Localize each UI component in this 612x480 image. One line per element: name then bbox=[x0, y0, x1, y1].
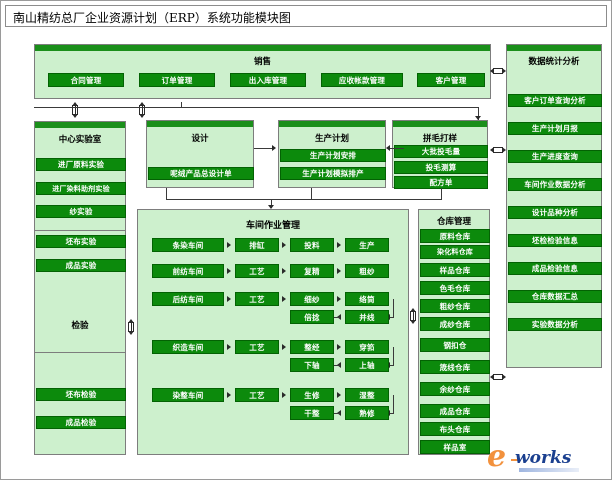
inspection-item-greige[interactable]: 坯布检验 bbox=[36, 388, 126, 401]
warehouse-item-roving[interactable]: 粗纱仓库 bbox=[420, 299, 490, 313]
workshop-title: 车间作业管理 bbox=[138, 218, 408, 231]
sales-item-customer[interactable]: 客户管理 bbox=[417, 73, 485, 87]
arrow-r3-1 bbox=[227, 296, 231, 302]
workshop-r1-step-2[interactable]: 投料 bbox=[290, 238, 334, 252]
arrow-r4-2 bbox=[282, 344, 286, 350]
workshop-row-prespin-name[interactable]: 前纺车间 bbox=[152, 264, 224, 278]
connector-sales-to-lab bbox=[71, 102, 80, 118]
lab-item-greige-fabric[interactable]: 坯布实验 bbox=[36, 235, 126, 248]
wool-sample-header-bar bbox=[393, 121, 487, 127]
statistics-module: 数据统计分析 客户订单查询分析 生产计划月报 生产进度查询 车间作业数据分析 设… bbox=[506, 44, 602, 368]
line-r5-wrap-v bbox=[393, 395, 394, 413]
line-r3-4 bbox=[334, 317, 340, 318]
workshop-r3-step-2[interactable]: 细纱 bbox=[290, 292, 334, 306]
connector-warehouse-to-stats bbox=[490, 373, 506, 382]
stats-item-plan-monthly[interactable]: 生产计划月报 bbox=[508, 122, 602, 135]
line-r3-wrap-h bbox=[390, 317, 394, 318]
line-r3-wrap-v bbox=[393, 299, 394, 317]
sales-item-inout-stock[interactable]: 出入库管理 bbox=[230, 73, 306, 87]
stats-item-design-variety[interactable]: 设计品种分析 bbox=[508, 206, 602, 219]
workshop-row-dyefinish-name[interactable]: 染整车间 bbox=[152, 388, 224, 402]
arrow-r1-3 bbox=[337, 242, 341, 248]
wool-sample-title: 拼毛打样 bbox=[393, 132, 487, 144]
warehouse-item-dye-chem[interactable]: 染化料仓库 bbox=[420, 245, 490, 259]
design-item-total-design-order[interactable]: 呢绒产品总设计单 bbox=[148, 167, 254, 180]
sales-header-bar bbox=[35, 45, 490, 51]
workshop-r2-step-2[interactable]: 复精 bbox=[290, 264, 334, 278]
wool-item-wool-calc[interactable]: 投毛测算 bbox=[394, 161, 488, 174]
workshop-r2-step-3[interactable]: 粗纱 bbox=[345, 264, 389, 278]
workshop-r3-step-1[interactable]: 工艺 bbox=[235, 292, 279, 306]
production-plan-title: 生产计划 bbox=[279, 132, 385, 144]
line-r4-wrap-v bbox=[393, 347, 394, 365]
connector-sales-to-stats bbox=[490, 67, 506, 76]
erp-module-diagram: 南山精纺总厂企业资源计划（ERP）系统功能模块图 销售 合同管理 订单管理 出入… bbox=[0, 0, 612, 480]
sales-module: 销售 合同管理 订单管理 出入库管理 应收帐款管理 客户管理 bbox=[34, 44, 491, 99]
central-lab-header-bar bbox=[35, 122, 125, 128]
line-woolsample-down bbox=[441, 188, 442, 199]
arrow-r4-3 bbox=[337, 344, 341, 350]
lab-item-yarn[interactable]: 纱实验 bbox=[36, 205, 126, 218]
workshop-r5-step2-1[interactable]: 干整 bbox=[290, 406, 334, 420]
workshop-r5-step-1[interactable]: 工艺 bbox=[235, 388, 279, 402]
stats-item-greige-inspect-info[interactable]: 坯检检验信息 bbox=[508, 234, 602, 247]
stats-item-customer-order-query[interactable]: 客户订单查询分析 bbox=[508, 94, 602, 107]
design-header-bar bbox=[147, 121, 253, 127]
wool-item-batch-wool-qty[interactable]: 大批投毛量 bbox=[394, 145, 488, 158]
plan-item-arrangement[interactable]: 生产计划安排 bbox=[280, 149, 386, 162]
warehouse-item-sample[interactable]: 样品仓库 bbox=[420, 263, 490, 277]
sales-title: 销售 bbox=[35, 55, 490, 67]
bus-line-to-workshop bbox=[166, 199, 442, 200]
warehouse-item-cloth-end[interactable]: 布头仓库 bbox=[420, 422, 490, 436]
arrow-r5-1 bbox=[227, 392, 231, 398]
workshop-r5-step2-2[interactable]: 熟修 bbox=[345, 406, 389, 420]
line-plan-down bbox=[311, 188, 312, 199]
lab-item-dye-auxiliary[interactable]: 进厂染料助剂实验 bbox=[36, 182, 126, 195]
design-title: 设计 bbox=[147, 132, 253, 144]
warehouse-title: 仓库管理 bbox=[419, 215, 489, 227]
page-title-bar: 南山精纺总厂企业资源计划（ERP）系统功能模块图 bbox=[5, 5, 607, 27]
central-lab-module-cont: 坯布实验 成品实验 检验 bbox=[34, 231, 126, 353]
line-woolsample-to-plan bbox=[390, 148, 404, 149]
warehouse-item-reed[interactable]: 钢扣仓 bbox=[420, 338, 490, 352]
stats-item-progress-query[interactable]: 生产进度查询 bbox=[508, 150, 602, 163]
line-r4-4 bbox=[334, 365, 340, 366]
arrow-r3-3 bbox=[337, 296, 341, 302]
stats-item-warehouse-summary[interactable]: 仓库数据汇总 bbox=[508, 290, 602, 303]
workshop-r1-step-1[interactable]: 排缸 bbox=[235, 238, 279, 252]
warehouse-item-surplus-yarn[interactable]: 余纱仓库 bbox=[420, 382, 490, 396]
inspection-title: 检验 bbox=[35, 319, 125, 331]
line-design-to-plan bbox=[254, 148, 272, 149]
production-plan-header-bar bbox=[279, 121, 385, 127]
lab-item-finished-product[interactable]: 成品实验 bbox=[36, 259, 126, 272]
wool-sample-module: 拼毛打样 大批投毛量 投毛测算 配方单 bbox=[392, 120, 488, 188]
stats-item-workshop-data[interactable]: 车间作业数据分析 bbox=[508, 178, 602, 191]
sales-item-contract[interactable]: 合同管理 bbox=[48, 73, 124, 87]
workshop-r4-step-2[interactable]: 整经 bbox=[290, 340, 334, 354]
workshop-r4-step-1[interactable]: 工艺 bbox=[235, 340, 279, 354]
line-r5-wrap-h bbox=[390, 413, 394, 414]
workshop-r5-step-3[interactable]: 湿整 bbox=[345, 388, 389, 402]
line-design-down bbox=[166, 188, 167, 199]
production-plan-module: 生产计划 生产计划安排 生产计划模拟排产 bbox=[278, 120, 386, 188]
arrow-r4-1 bbox=[227, 344, 231, 350]
workshop-r1-step-3[interactable]: 生产 bbox=[345, 238, 389, 252]
workshop-r4-step2-1[interactable]: 下轴 bbox=[290, 358, 334, 372]
inspection-item-finished[interactable]: 成品检验 bbox=[36, 416, 126, 429]
arrow-r3-2 bbox=[282, 296, 286, 302]
logo-bar bbox=[519, 468, 579, 472]
connector-sales-to-design bbox=[138, 102, 147, 118]
workshop-r3-step-3[interactable]: 络筒 bbox=[345, 292, 389, 306]
stats-item-product-inspect-info[interactable]: 成品检验信息 bbox=[508, 262, 602, 275]
logo-e: e bbox=[487, 439, 506, 474]
arrow-r1-1 bbox=[227, 242, 231, 248]
warehouse-item-finished-yarn[interactable]: 成纱仓库 bbox=[420, 317, 490, 331]
inspection-module: 坯布检验 成品检验 bbox=[34, 353, 126, 455]
statistics-title: 数据统计分析 bbox=[507, 55, 601, 67]
workshop-row-dyeing-name[interactable]: 条染车间 bbox=[152, 238, 224, 252]
arrow-design-to-plan bbox=[272, 145, 276, 151]
workshop-module: 车间作业管理 条染车间 排缸 投料 生产 前纺车间 工艺 复精 粗纱 后纺车间 … bbox=[137, 209, 409, 455]
page-title: 南山精纺总厂企业资源计划（ERP）系统功能模块图 bbox=[13, 9, 291, 26]
central-lab-module: 中心实验室 进厂原料实验 进厂染料助剂实验 纱实验 bbox=[34, 121, 126, 231]
arrow-r5-2 bbox=[282, 392, 286, 398]
workshop-row-weaving-name[interactable]: 织造车间 bbox=[152, 340, 224, 354]
workshop-r2-step-1[interactable]: 工艺 bbox=[235, 264, 279, 278]
arrow-r2-3 bbox=[337, 268, 341, 274]
eworks-logo: e works bbox=[485, 439, 603, 473]
warehouse-module: 仓库管理 原料仓库 染化料仓库 样品仓库 色毛仓库 粗纱仓库 成纱仓库 钢扣仓 … bbox=[418, 209, 490, 455]
sales-item-receivable[interactable]: 应收帐款管理 bbox=[321, 73, 403, 87]
sales-item-order[interactable]: 订单管理 bbox=[139, 73, 215, 87]
arrow-r2-2 bbox=[282, 268, 286, 274]
connector-woolsample-to-stats bbox=[490, 146, 506, 155]
workshop-r5-step-2[interactable]: 生修 bbox=[290, 388, 334, 402]
line-r5-4 bbox=[334, 413, 340, 414]
arrow-woolsample-to-plan bbox=[386, 145, 390, 151]
logo-works: works bbox=[515, 448, 571, 468]
workshop-r3-step2-1[interactable]: 倍捻 bbox=[290, 310, 334, 324]
workshop-r4-step2-2[interactable]: 上轴 bbox=[345, 358, 389, 372]
arrow-r5-3 bbox=[337, 392, 341, 398]
bus-line-sales-bottom bbox=[34, 107, 478, 108]
connector-lab-to-workshop bbox=[127, 319, 136, 335]
warehouse-item-color-wool[interactable]: 色毛仓库 bbox=[420, 281, 490, 295]
stats-item-lab-data[interactable]: 实验数据分析 bbox=[508, 318, 602, 331]
workshop-r4-step-3[interactable]: 穿筘 bbox=[345, 340, 389, 354]
warehouse-item-reed-thread[interactable]: 筬线仓库 bbox=[420, 360, 490, 374]
warehouse-item-finished-goods[interactable]: 成品仓库 bbox=[420, 404, 490, 418]
design-module: 设计 呢绒产品总设计单 bbox=[146, 120, 254, 188]
statistics-header-bar bbox=[507, 45, 601, 51]
plan-item-simulation[interactable]: 生产计划模拟排产 bbox=[280, 167, 386, 180]
central-lab-title: 中心实验室 bbox=[35, 133, 125, 145]
workshop-row-postspin-name[interactable]: 后纺车间 bbox=[152, 292, 224, 306]
arrow-r2-1 bbox=[227, 268, 231, 274]
arrow-r1-2 bbox=[282, 242, 286, 248]
connector-workshop-to-warehouse bbox=[409, 308, 418, 324]
warehouse-item-raw[interactable]: 原料仓库 bbox=[420, 229, 490, 243]
workshop-r3-step2-2[interactable]: 并线 bbox=[345, 310, 389, 324]
lab-item-raw-material[interactable]: 进厂原料实验 bbox=[36, 158, 126, 171]
warehouse-item-sample-room[interactable]: 样品室 bbox=[420, 440, 490, 454]
line-r4-wrap-h bbox=[390, 365, 394, 366]
bus-line-left-riser bbox=[181, 102, 182, 107]
